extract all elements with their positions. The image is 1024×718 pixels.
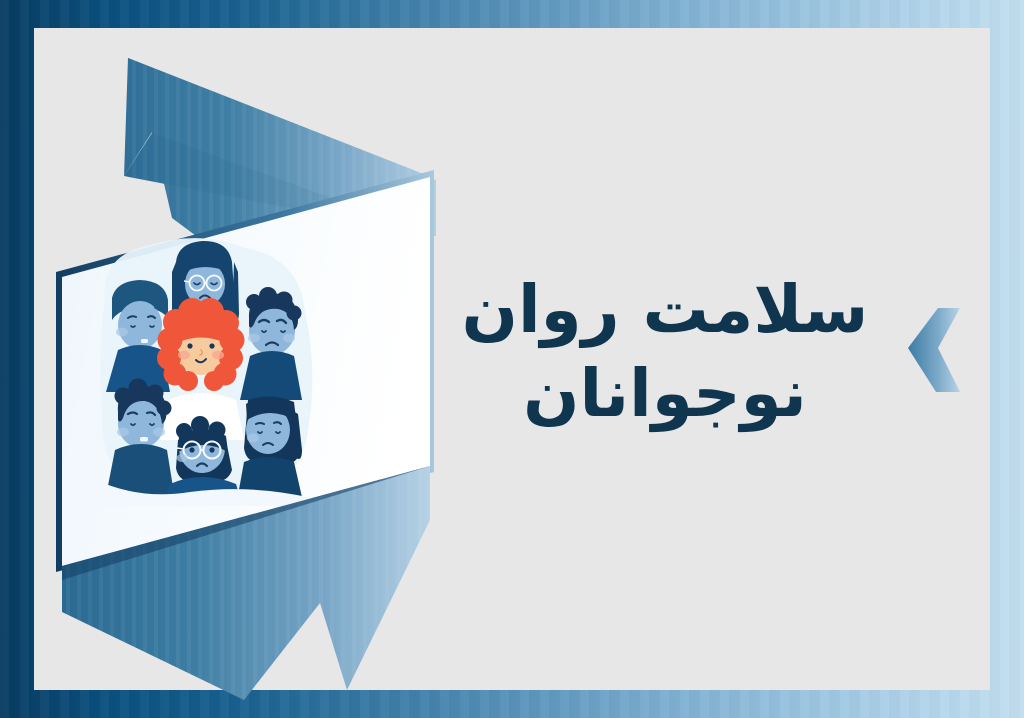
title-line-1: سلامت روان <box>455 268 875 352</box>
page-title: سلامت روان نوجوانان <box>455 268 875 437</box>
left-chevron-arrow <box>908 308 960 392</box>
slide-canvas: سلامت روان نوجوانان <box>0 0 1024 718</box>
title-line-2: نوجوانان <box>455 352 875 436</box>
group-of-teenagers-illustration <box>96 238 312 520</box>
